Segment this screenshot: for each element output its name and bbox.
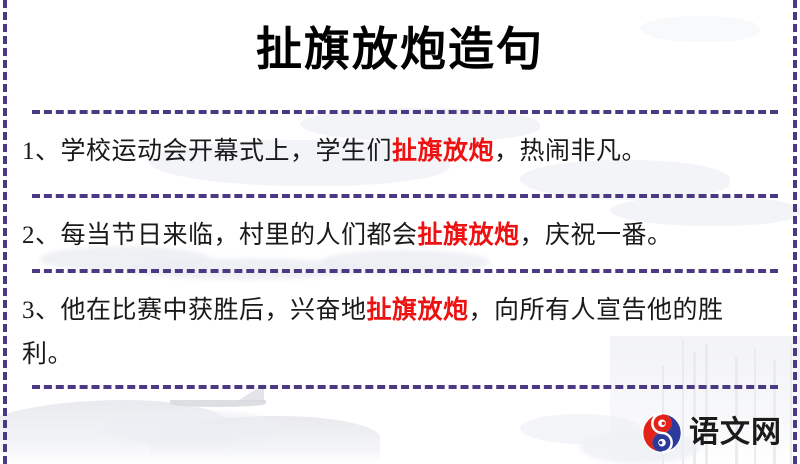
logo-text: 语文网 [689,418,782,448]
yinyang-fish-logo-icon [641,412,683,454]
sentence-text-before-3: 他在比赛中获胜后，兴奋地 [61,297,367,324]
separator-line-2 [32,194,778,198]
separator-line-4 [32,385,778,389]
example-sentence-2: 2、每当节日来临，村里的人们都会扯旗放炮，庆祝一番。 [22,213,770,258]
separator-line-1 [32,110,778,114]
sentence-text-after-2: ，庆祝一番。 [520,222,673,249]
sentence-text-before-2: 每当节日来临，村里的人们都会 [61,222,418,249]
sentence-text-before-1: 学校运动会开幕式上，学生们 [61,138,393,165]
separator-line-3 [32,269,778,273]
sentence-index-1: 1、 [22,138,61,165]
site-logo[interactable]: 语文网 [641,412,782,454]
highlight-phrase-1: 扯旗放炮 [392,136,494,165]
example-sentence-3: 3、他在比赛中获胜后，兴奋地扯旗放炮，向所有人宣告他的胜利。 [22,288,770,377]
highlight-phrase-2: 扯旗放炮 [418,220,520,249]
sentence-text-after-1: ，热闹非凡。 [494,138,647,165]
highlight-phrase-3: 扯旗放炮 [367,295,469,324]
slide-page: 扯旗放炮造句 1、学校运动会开幕式上，学生们扯旗放炮，热闹非凡。 2、每当节日来… [0,0,800,464]
sentence-index-3: 3、 [22,297,61,324]
page-title: 扯旗放炮造句 [0,18,800,80]
example-sentence-1: 1、学校运动会开幕式上，学生们扯旗放炮，热闹非凡。 [22,129,770,174]
sentence-index-2: 2、 [22,222,61,249]
